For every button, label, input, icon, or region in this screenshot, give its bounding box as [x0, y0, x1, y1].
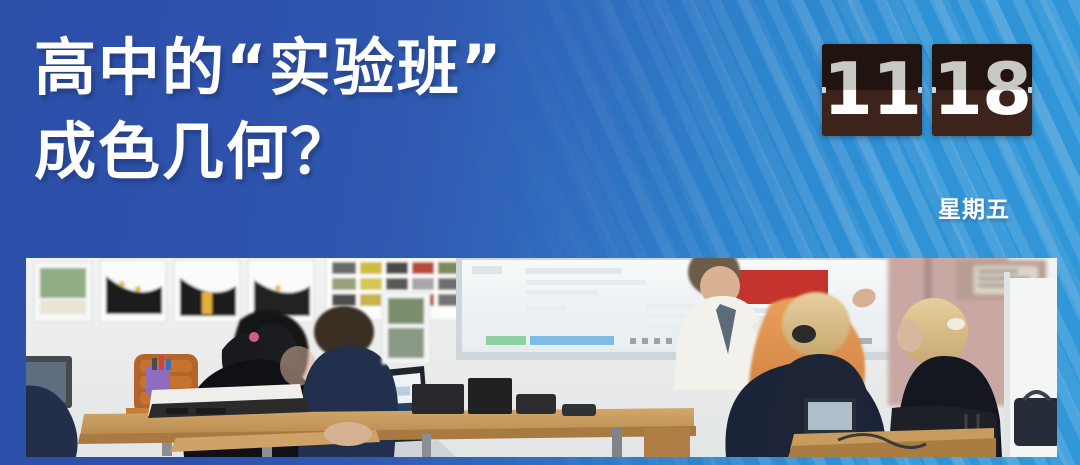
title-line-1: 高中的“实验班”: [34, 26, 674, 110]
flip-hinge-right-icon: [918, 87, 922, 93]
flip-hinge-right-icon: [1028, 87, 1032, 93]
day-value: 18: [932, 44, 1032, 136]
page-title: 高中的“实验班” 成色几何？: [34, 26, 674, 195]
date-widget: 11 18: [822, 44, 1032, 136]
classroom-photo-illustration: [26, 258, 1057, 457]
classroom-photo: [26, 258, 1057, 457]
flip-hinge-left-icon: [822, 87, 826, 93]
flip-card-day: 18: [932, 44, 1032, 136]
flip-hinge-left-icon: [932, 87, 936, 93]
poster: 高中的“实验班” 成色几何？ 11 18 星期五: [0, 0, 1080, 465]
month-value: 11: [822, 44, 922, 136]
title-line-2: 成色几何？: [34, 110, 674, 194]
weekday-label: 星期五: [938, 190, 1010, 224]
flip-card-month: 11: [822, 44, 922, 136]
